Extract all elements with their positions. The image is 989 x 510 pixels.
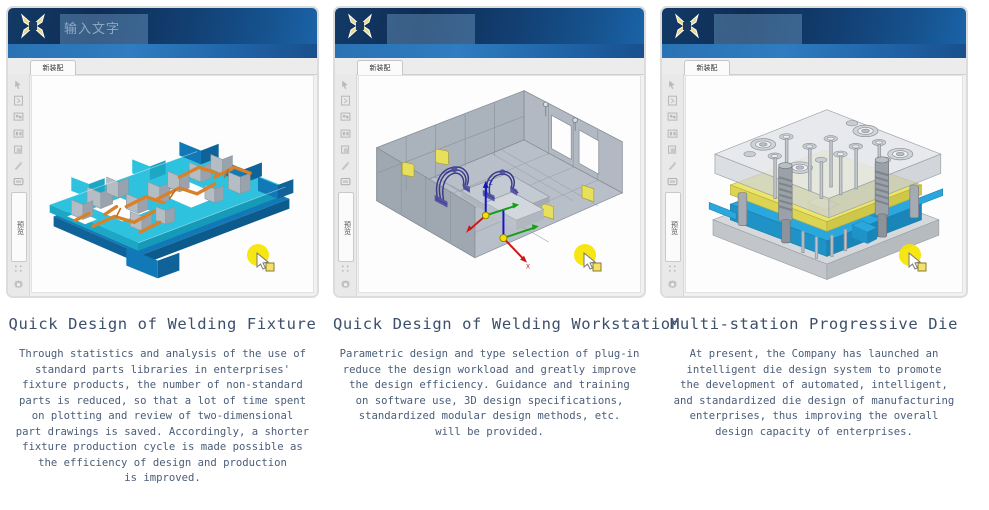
toolbar-vertical-label-3[interactable]: 预览: [665, 192, 681, 261]
gear-icon[interactable]: [665, 278, 680, 291]
extrude-icon[interactable]: [338, 143, 353, 156]
titlebar-gradient-top: [8, 8, 317, 44]
assembly-icon[interactable]: [11, 110, 26, 123]
tabstrip-2: 新装配: [335, 58, 644, 75]
cad-app-window-2: 新装配 预览: [333, 6, 646, 298]
measure-icon[interactable]: [665, 159, 680, 172]
app-body-3: 新装配 预览: [662, 58, 966, 296]
card-body-2: Parametric design and type selection of …: [333, 347, 646, 440]
svg-text:X: X: [526, 264, 530, 270]
preview-icon[interactable]: [11, 175, 26, 188]
body-line: part drawings is saved. Accordingly, a s…: [6, 425, 319, 441]
preview-icon[interactable]: [338, 175, 353, 188]
x-emblem-logo: [18, 13, 48, 39]
viewport-2[interactable]: Z X: [358, 75, 641, 293]
assembly-icon[interactable]: [338, 110, 353, 123]
body-line: will be provided.: [333, 425, 646, 441]
tab-new-assembly-3[interactable]: 新装配: [684, 60, 730, 75]
titlebar-gradient-bottom: [335, 44, 644, 58]
card-welding-workstation: 新装配 预览: [333, 6, 646, 487]
gear-icon[interactable]: [338, 278, 353, 291]
tab-new-assembly-1[interactable]: 新装配: [30, 60, 76, 75]
app-titlebar-2: [335, 8, 644, 58]
click-highlight-cursor: [571, 242, 605, 274]
body-line: the design efficiency. Guidance and trai…: [333, 378, 646, 394]
toolbar-1: 预览: [8, 74, 30, 296]
assembly-icon[interactable]: [665, 110, 680, 123]
body-line: parts is reduced, so that a lot of time …: [6, 394, 319, 410]
grid-dots-icon[interactable]: [665, 262, 680, 275]
app-body-2: 新装配 预览: [335, 58, 644, 296]
toolbar-2: 预览: [335, 74, 357, 296]
body-line: the development of automated, intelligen…: [660, 378, 968, 394]
tabstrip-1: 新装配: [8, 58, 317, 75]
x-emblem-logo: [345, 13, 375, 39]
card-title-1: Quick Design of Welding Fixture: [6, 315, 319, 333]
constraint-icon[interactable]: [338, 127, 353, 140]
app-body-1: 新装配 预览: [8, 58, 317, 296]
viewport-3[interactable]: [685, 75, 963, 293]
card-welding-fixture: 输入文字 新装配 预览: [6, 6, 319, 487]
product-showcase-page: 输入文字 新装配 预览: [0, 0, 989, 510]
body-line: standardized modular design methods, etc…: [333, 409, 646, 425]
gear-icon[interactable]: [11, 278, 26, 291]
sketch-icon[interactable]: [338, 94, 353, 107]
toolbar-vertical-label-2[interactable]: 预览: [338, 192, 354, 261]
svg-text:Z: Z: [489, 181, 493, 187]
sketch-icon[interactable]: [665, 94, 680, 107]
app-titlebar-3: [662, 8, 966, 58]
pointer-select-icon[interactable]: [11, 78, 26, 91]
titlebar-text-panel: [387, 14, 475, 44]
body-line: is improved.: [6, 471, 319, 487]
extrude-icon[interactable]: [665, 143, 680, 156]
body-line: fixture production cycle is made possibl…: [6, 440, 319, 456]
body-line: reduce the design workload and greatly i…: [333, 363, 646, 379]
body-line: fixture products, the number of non-stan…: [6, 378, 319, 394]
body-line: intelligent die design system to promote: [660, 363, 968, 379]
sketch-icon[interactable]: [11, 94, 26, 107]
body-line: on plotting and review of two-dimensiona…: [6, 409, 319, 425]
constraint-icon[interactable]: [11, 127, 26, 140]
titlebar-gradient-bottom: [662, 44, 966, 58]
x-emblem-logo: [672, 13, 702, 39]
tabstrip-3: 新装配: [662, 58, 966, 75]
body-line: design capacity of enterprises.: [660, 425, 968, 441]
body-line: the efficiency of design and production: [6, 456, 319, 472]
pointer-select-icon[interactable]: [665, 78, 680, 91]
body-line: standard parts libraries in enterprises': [6, 363, 319, 379]
toolbar-3: 预览: [662, 74, 684, 296]
body-line: and standardized die design of manufactu…: [660, 394, 968, 410]
tab-new-assembly-2[interactable]: 新装配: [357, 60, 403, 75]
app-titlebar-1: 输入文字: [8, 8, 317, 58]
body-line: enterprises, thus improving the overall: [660, 409, 968, 425]
body-line: Parametric design and type selection of …: [333, 347, 646, 363]
grid-dots-icon[interactable]: [338, 262, 353, 275]
titlebar-gradient-bottom: [8, 44, 317, 58]
body-line: At present, the Company has launched an: [660, 347, 968, 363]
toolbar-vertical-label-1[interactable]: 预览: [11, 192, 27, 261]
card-progressive-die: 新装配 预览: [660, 6, 968, 487]
preview-icon[interactable]: [665, 175, 680, 188]
pointer-select-icon[interactable]: [338, 78, 353, 91]
body-line: on software use, 3D design specification…: [333, 394, 646, 410]
card-body-3: At present, the Company has launched an …: [660, 347, 968, 440]
viewport-1[interactable]: [31, 75, 314, 293]
cad-app-window-1: 输入文字 新装配 预览: [6, 6, 319, 298]
body-line: Through statistics and analysis of the u…: [6, 347, 319, 363]
card-body-1: Through statistics and analysis of the u…: [6, 347, 319, 487]
cad-app-window-3: 新装配 预览: [660, 6, 968, 298]
extrude-icon[interactable]: [11, 143, 26, 156]
measure-icon[interactable]: [11, 159, 26, 172]
grid-dots-icon[interactable]: [11, 262, 26, 275]
titlebar-placeholder-text: 输入文字: [64, 18, 120, 37]
titlebar-text-panel: [714, 14, 802, 44]
card-title-3: Multi-station Progressive Die: [660, 315, 968, 333]
titlebar-gradient-top: [335, 8, 644, 44]
click-highlight-cursor: [244, 242, 278, 274]
measure-icon[interactable]: [338, 159, 353, 172]
constraint-icon[interactable]: [665, 127, 680, 140]
click-highlight-cursor: [896, 242, 930, 274]
card-row: 输入文字 新装配 预览: [0, 0, 989, 487]
titlebar-gradient-top: [662, 8, 966, 44]
card-title-2: Quick Design of Welding Workstation: [333, 315, 646, 333]
